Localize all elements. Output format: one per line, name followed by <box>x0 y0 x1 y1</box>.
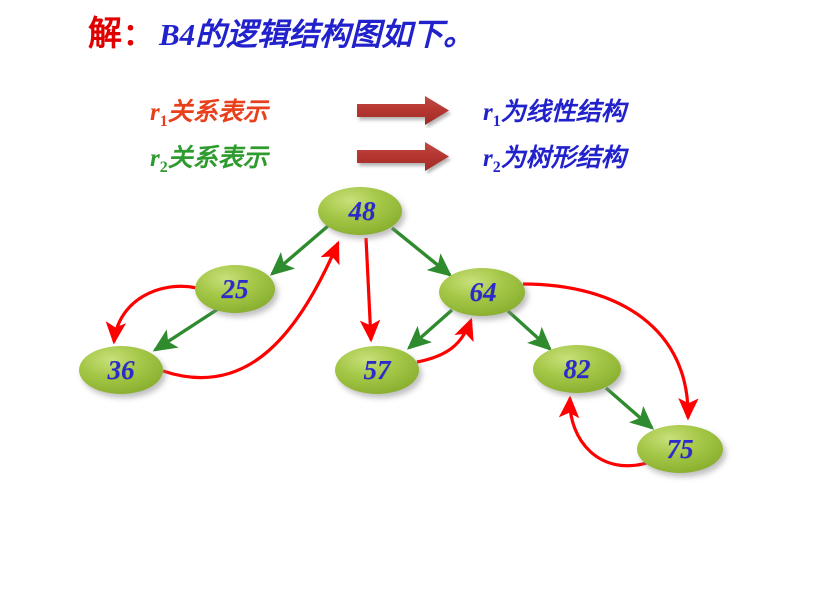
legend-left-label-r1: r1关系表示 <box>150 92 355 131</box>
legend: r1关系表示 r1为线性结构 <box>150 88 690 180</box>
legend-relation-subscript: 1 <box>160 113 168 130</box>
legend-relation-symbol: r <box>483 145 493 172</box>
legend-right-label-r2: r2为树形结构 <box>475 138 626 177</box>
legend-right-label-r1: r1为线性结构 <box>475 92 626 131</box>
legend-row: r1关系表示 r1为线性结构 <box>150 88 690 134</box>
edge-red-36-48 <box>163 243 338 378</box>
graph-node-48[interactable] <box>318 187 402 235</box>
legend-relation-symbol: r <box>150 99 160 126</box>
legend-left-label-r2: r2关系表示 <box>150 138 355 177</box>
edge-red-57-64 <box>417 320 471 362</box>
legend-right-text: 为树形结构 <box>501 145 626 172</box>
legend-relation-subscript: 2 <box>160 159 168 176</box>
page-title: 解：B4的逻辑结构图如下。 <box>88 16 474 53</box>
graph-node-64[interactable] <box>439 268 525 316</box>
edge-green-64-57 <box>409 310 452 348</box>
legend-relation-symbol: r <box>150 145 160 172</box>
nodes-group <box>79 187 723 473</box>
legend-right-text: 为线性结构 <box>501 99 626 126</box>
edges-green-group <box>155 226 652 428</box>
legend-relation-symbol: r <box>483 99 493 126</box>
graph-node-36[interactable] <box>79 346 163 394</box>
title-colon: ： <box>123 19 159 52</box>
edge-red-64-75 <box>523 284 688 418</box>
legend-row: r2关系表示 r2为树形结构 <box>150 134 690 180</box>
edge-green-64-82 <box>508 311 550 349</box>
legend-left-text: 关系表示 <box>168 145 268 172</box>
graph-node-label-48: 48 <box>320 196 404 227</box>
thick-right-arrow-icon <box>355 94 475 128</box>
legend-relation-subscript: 2 <box>493 159 501 176</box>
edge-green-82-75 <box>606 388 652 428</box>
legend-relation-subscript: 1 <box>493 113 501 130</box>
title-marker: 解 <box>88 16 123 53</box>
edges-red-group <box>114 238 688 466</box>
legend-left-text: 关系表示 <box>168 99 268 126</box>
graph-node-label-57: 57 <box>335 355 419 386</box>
thick-right-arrow-icon <box>355 140 475 174</box>
title-text: B4的逻辑结构图如下。 <box>159 17 474 52</box>
graph-node-57[interactable] <box>335 346 419 394</box>
graph-node-label-75: 75 <box>637 434 723 465</box>
edge-green-48-25 <box>272 226 328 274</box>
graph-node-label-64: 64 <box>440 277 526 308</box>
edge-red-48-57 <box>366 238 371 340</box>
edge-green-48-64 <box>392 228 450 275</box>
edge-red-25-36 <box>114 286 197 342</box>
edge-green-25-36 <box>155 309 218 350</box>
graph-node-label-25: 25 <box>195 274 275 305</box>
graph-node-82[interactable] <box>533 345 621 393</box>
edge-red-75-82 <box>570 398 650 466</box>
graph-node-label-82: 82 <box>533 354 621 385</box>
graph-node-75[interactable] <box>637 425 723 473</box>
graph-node-label-36: 36 <box>79 355 163 386</box>
graph-node-25[interactable] <box>195 265 275 313</box>
